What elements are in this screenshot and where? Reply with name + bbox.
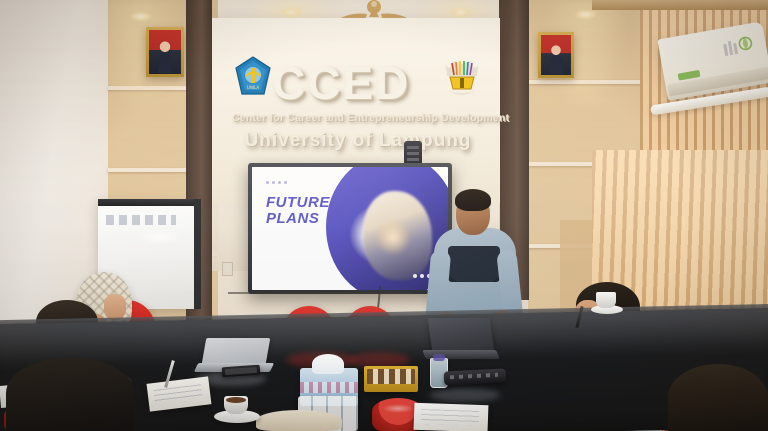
table-reflection-laptop-dark (430, 388, 500, 402)
ceiling-spotlight-1 (130, 12, 152, 21)
tv-screen: FUTURE PLANS (252, 167, 448, 290)
snack-box (364, 366, 418, 392)
presentation-display: FUTURE PLANS (248, 163, 452, 294)
slide-title-line2: PLANS (266, 211, 330, 227)
portrait-image-left (149, 30, 181, 74)
ceiling-spotlight-2 (280, 8, 302, 17)
notebook-left-lines (153, 384, 202, 404)
wall-outlet (222, 262, 233, 276)
slide-dots-top-left-icon (266, 181, 287, 184)
coffee-liquid (226, 397, 246, 403)
attendee-hijab-face (104, 294, 126, 320)
presenter-hair (455, 189, 491, 211)
serving-plate (256, 410, 342, 431)
snack-tray (367, 369, 415, 384)
ac-brand-graphic-icon (720, 33, 758, 63)
svg-text:UNILA: UNILA (247, 85, 259, 90)
whiteboard-writing (106, 215, 176, 225)
sign-institution: University of Lampung (232, 130, 484, 152)
portrait-image-right (541, 35, 571, 75)
whiteboard-glare (138, 229, 182, 245)
slide-title-line1: FUTURE (266, 195, 330, 211)
notebook-right-lines (421, 409, 479, 426)
photo-scene: UNILA (0, 0, 768, 431)
whiteboard-right-frame (194, 199, 201, 309)
ceiling-spotlight-3 (450, 8, 472, 17)
ceiling-spotlight-4 (575, 10, 597, 19)
presenter-shirt-pattern (448, 246, 500, 282)
sign-subtitle: Center for Career and Entrepreneurship D… (232, 112, 484, 124)
coffee-cup-body-right (596, 292, 616, 308)
slide-title: FUTURE PLANS (266, 195, 330, 227)
sign-acronym: CCED (272, 60, 410, 106)
president-portrait (146, 27, 184, 77)
lampung-province-emblem-icon (444, 60, 480, 100)
tv-cable-horizontal (228, 292, 412, 294)
whiteboard-top-rail (98, 199, 194, 206)
notebook-right (414, 403, 489, 431)
attendee-foreground-left (6, 358, 134, 431)
coffee-cup-right (596, 292, 618, 312)
attendee-foreground-right (668, 364, 768, 431)
tissue-box-pattern (300, 382, 358, 393)
laptop-silver-screen (202, 338, 271, 364)
vice-president-portrait (538, 32, 574, 78)
laptop-dark-screen (428, 318, 495, 352)
curtain-rod (592, 0, 768, 10)
coffee-cup (222, 396, 250, 418)
university-of-lampung-logo-icon: UNILA (234, 56, 272, 98)
tissue-sheet (312, 354, 344, 374)
